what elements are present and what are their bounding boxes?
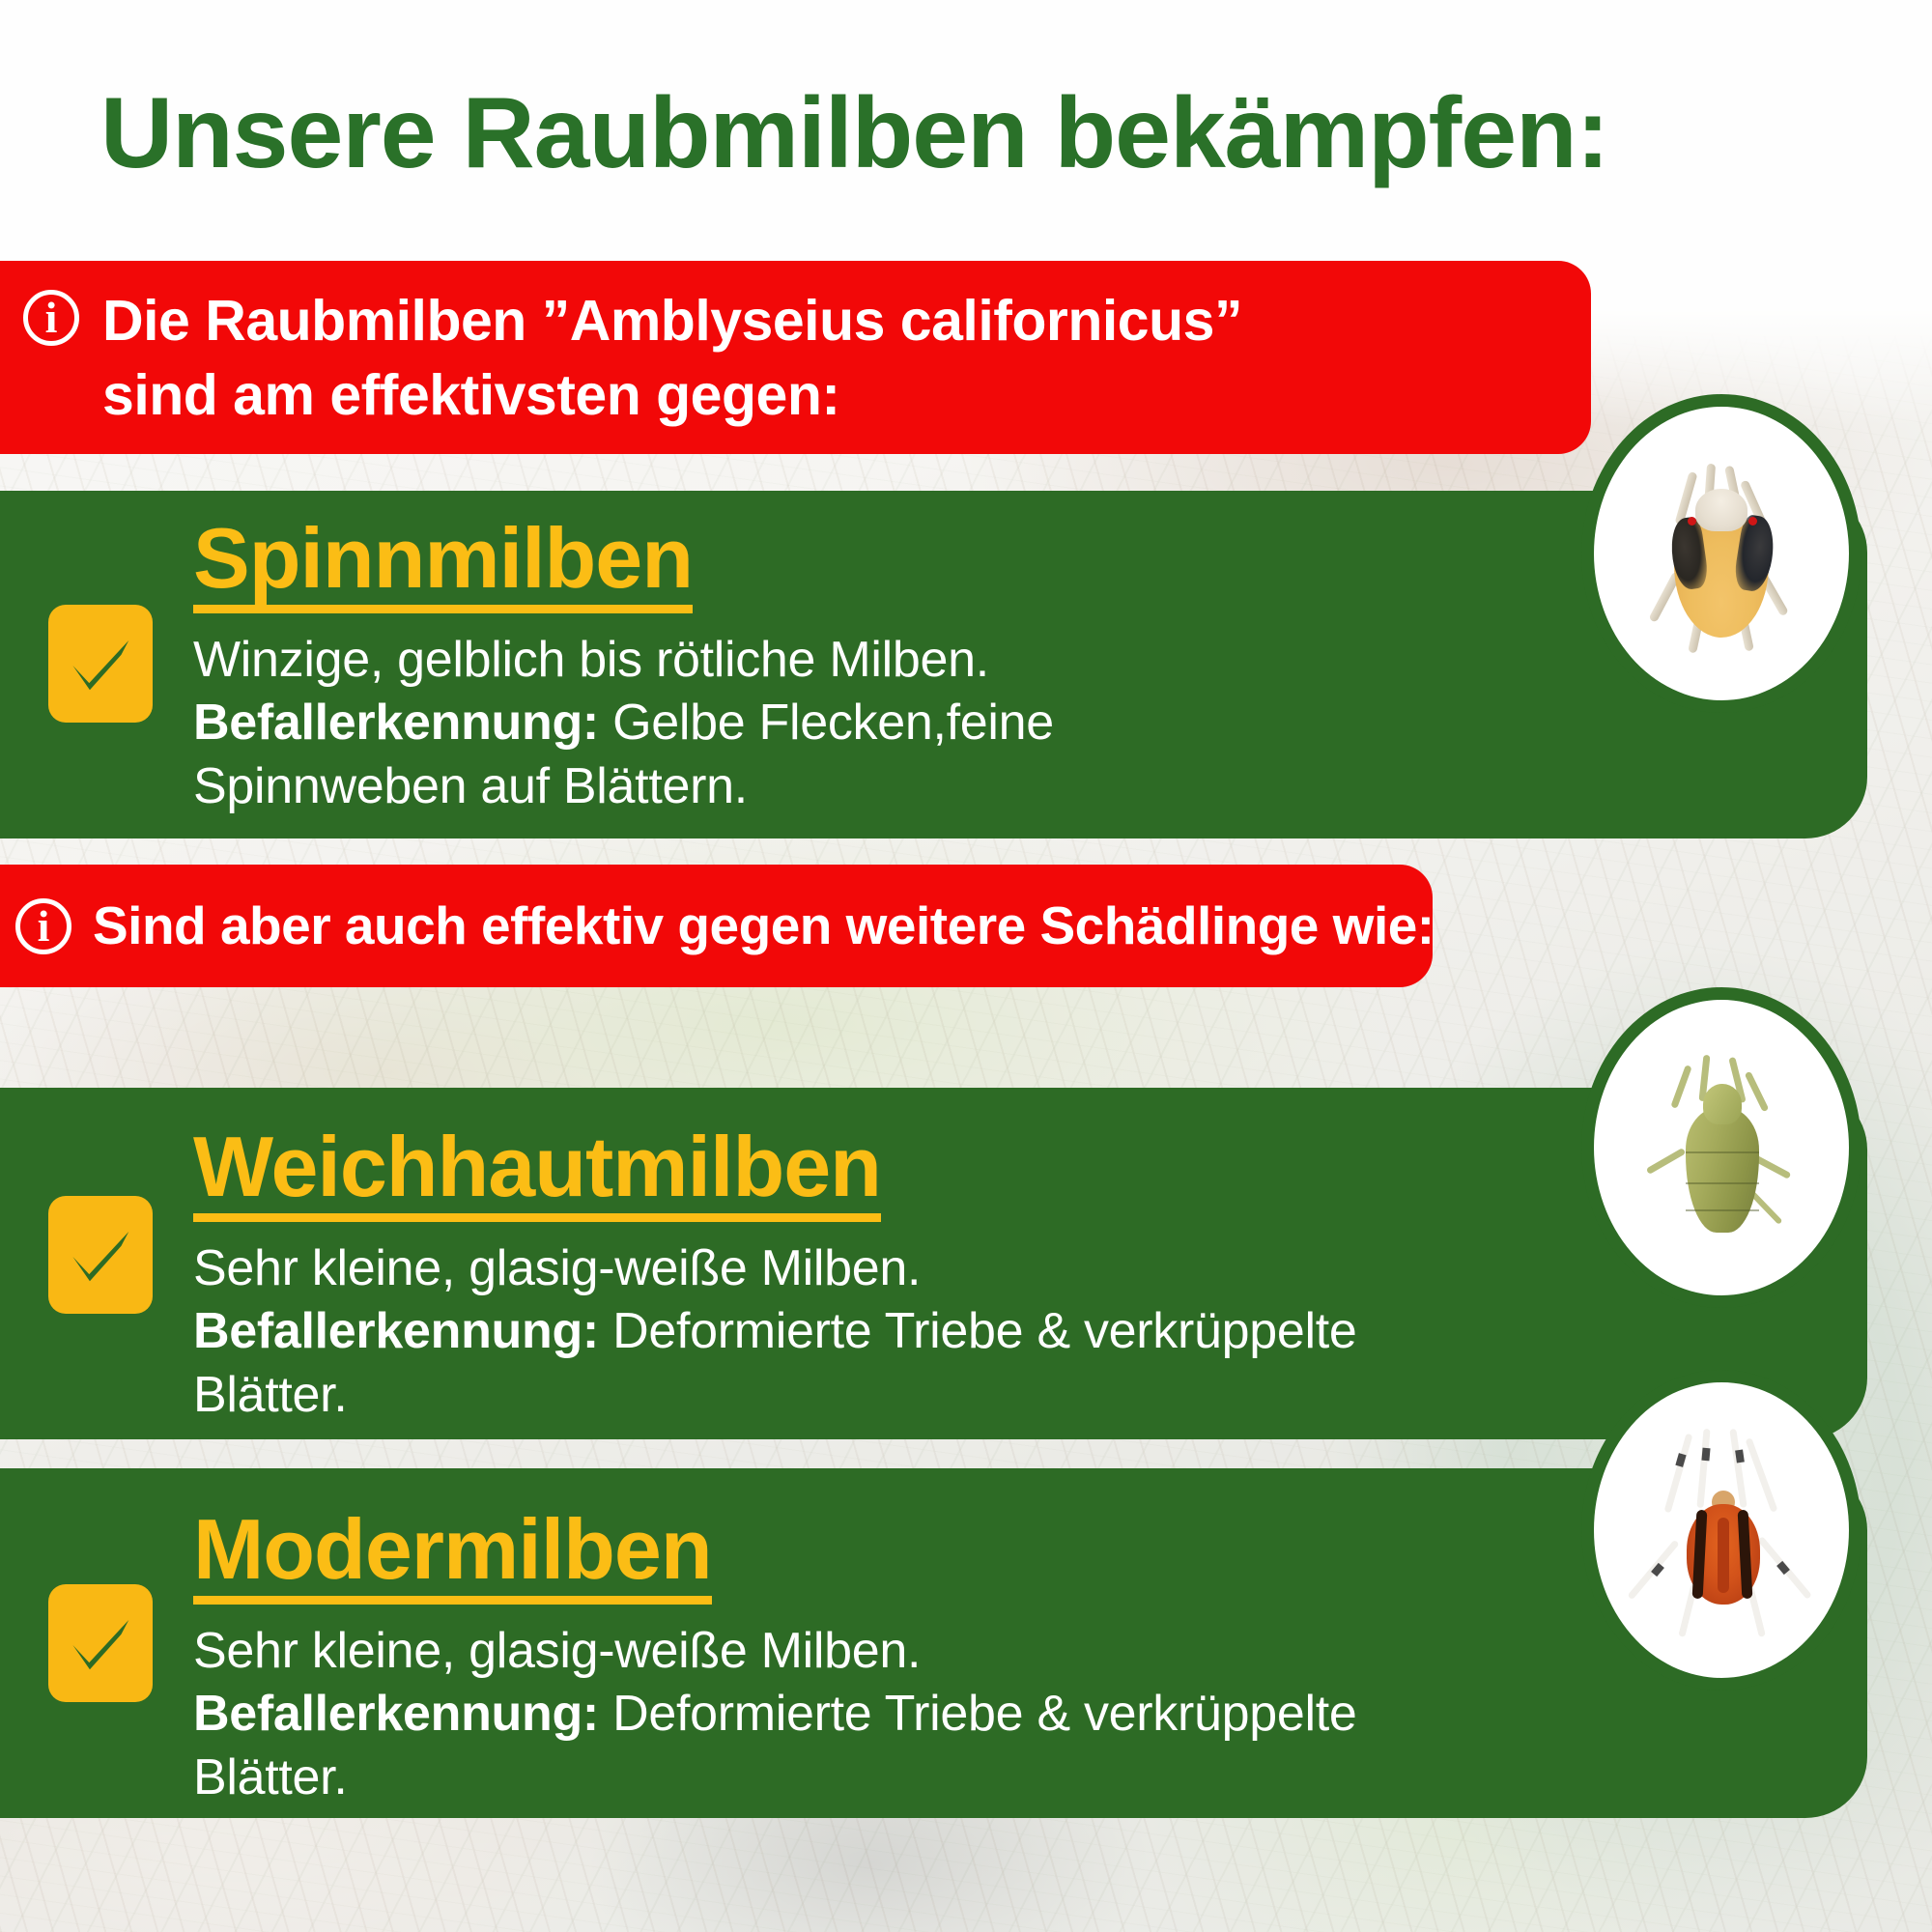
checkmark-icon (48, 605, 153, 723)
detection-label: Befallerkennung: (193, 1686, 599, 1742)
info-banner-primary-text: Die Raubmilben ”Amblyseius californicus”… (102, 284, 1242, 432)
pest-name: Modermilben (193, 1505, 712, 1605)
info-icon: i (15, 898, 71, 954)
pest-detection: Befallerkennung: Deformierte Triebe & ve… (193, 1683, 1468, 1809)
info-banner-secondary: i Sind aber auch effektiv gegen weitere … (0, 865, 1433, 987)
mould-mite-illustration (1634, 1429, 1808, 1632)
pest-description: Winzige, gelblich bis rötliche Milben. (193, 629, 1275, 693)
broad-mite-photo (1581, 987, 1861, 1308)
page-title: Unsere Raubmilben bekämpfen: (100, 83, 1608, 184)
pest-name: Spinnmilben (193, 514, 693, 613)
pest-description-block: Sehr kleine, glasig-weiße Milben. Befall… (193, 1620, 1468, 1810)
pest-description-block: Sehr kleine, glasig-weiße Milben. Befall… (193, 1237, 1468, 1428)
pest-card-body: Spinnmilben Winzige, gelblich bis rötlic… (193, 514, 1275, 818)
pest-description: Sehr kleine, glasig-weiße Milben. (193, 1237, 1468, 1301)
pest-card-body: Modermilben Sehr kleine, glasig-weiße Mi… (193, 1505, 1468, 1809)
spider-mite-photo (1581, 394, 1861, 713)
checkmark-icon (48, 1584, 153, 1702)
broad-mite-illustration (1649, 1051, 1794, 1244)
info-banner-primary-line1: Die Raubmilben ”Amblyseius californicus” (102, 284, 1242, 358)
pest-description: Sehr kleine, glasig-weiße Milben. (193, 1620, 1468, 1684)
info-icon: i (23, 290, 79, 346)
checkmark-icon (48, 1196, 153, 1314)
spider-mite-illustration (1649, 462, 1794, 645)
mould-mite-photo (1581, 1370, 1861, 1690)
detection-label: Befallerkennung: (193, 695, 599, 751)
pest-name: Weichhautmilben (193, 1122, 881, 1222)
info-banner-primary-line2: sind am effektivsten gegen: (102, 358, 1242, 433)
pest-card-body: Weichhautmilben Sehr kleine, glasig-weiß… (193, 1122, 1468, 1427)
pest-description-block: Winzige, gelblich bis rötliche Milben. B… (193, 629, 1275, 819)
pest-detection: Befallerkennung: Gelbe Flecken,feine Spi… (193, 692, 1275, 818)
detection-label: Befallerkennung: (193, 1303, 599, 1359)
pest-detection: Befallerkennung: Deformierte Triebe & ve… (193, 1300, 1468, 1427)
info-banner-secondary-text: Sind aber auch effektiv gegen weitere Sc… (93, 896, 1435, 955)
info-banner-primary: i Die Raubmilben ”Amblyseius californicu… (0, 261, 1591, 454)
